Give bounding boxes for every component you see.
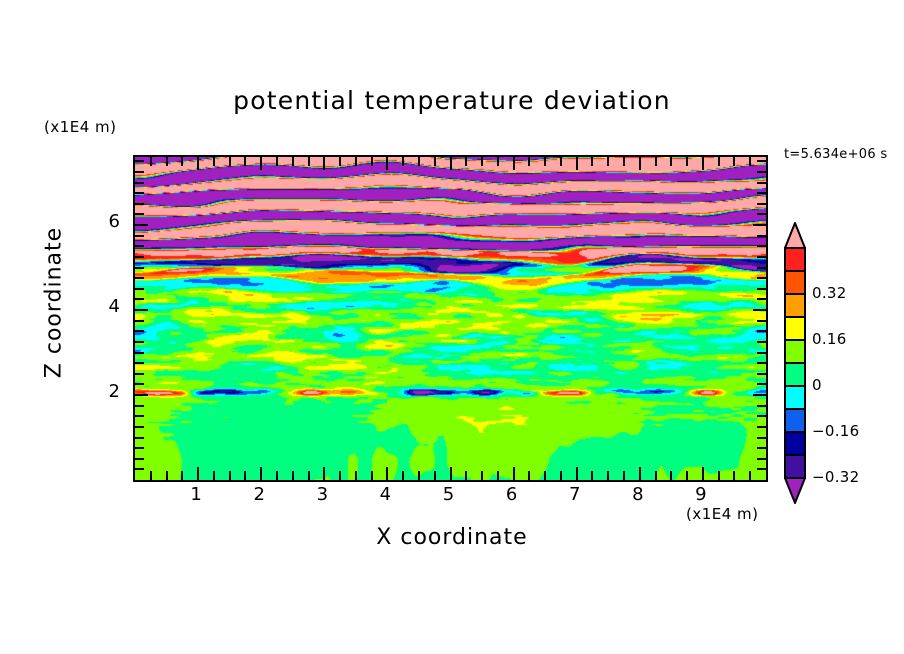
axis-tick [197, 157, 199, 170]
axis-tick [418, 471, 420, 480]
axis-tick [686, 157, 688, 166]
axis-tick [450, 157, 452, 170]
axis-tick [323, 157, 325, 170]
axis-tick [733, 157, 735, 166]
axis-tick [135, 203, 144, 205]
colorbar-over-arrow [785, 223, 805, 248]
axis-tick [544, 471, 546, 480]
colorbar-band [785, 363, 805, 386]
y-tick-label: 2 [92, 381, 120, 402]
axis-tick [402, 471, 404, 480]
axis-tick [757, 277, 766, 279]
axis-tick [229, 471, 231, 480]
axis-tick [135, 437, 144, 439]
axis-tick [402, 157, 404, 166]
axis-tick [757, 192, 766, 194]
axis-tick [733, 471, 735, 480]
axis-tick [135, 320, 144, 322]
axis-tick [166, 471, 168, 480]
y-axis-label: Z coordinate [42, 203, 67, 403]
axis-tick [757, 320, 766, 322]
colorbar-tick-label: −0.32 [812, 468, 859, 486]
axis-tick [434, 471, 436, 480]
axis-tick [481, 471, 483, 480]
axis-tick [670, 157, 672, 166]
axis-tick [355, 157, 357, 166]
axis-tick [497, 157, 499, 166]
axis-tick [757, 426, 766, 428]
axis-tick [757, 383, 766, 385]
axis-tick [386, 157, 388, 170]
colorbar [783, 222, 807, 504]
axis-tick [718, 471, 720, 480]
axis-tick [135, 447, 144, 449]
colorbar-band [785, 248, 805, 271]
x-tick-label: 3 [302, 484, 342, 505]
axis-tick [465, 471, 467, 480]
axis-tick [544, 157, 546, 166]
axis-tick [135, 309, 148, 311]
contour-field [135, 157, 766, 480]
axis-tick [513, 467, 515, 480]
axis-tick [292, 157, 294, 166]
axis-tick [135, 171, 144, 173]
axis-tick [150, 157, 152, 166]
axis-tick [465, 157, 467, 166]
axis-tick [757, 288, 766, 290]
y-axis-unit-label: (x1E4 m) [44, 118, 117, 136]
colorbar-tick-label: 0.16 [812, 330, 847, 348]
axis-tick [181, 157, 183, 166]
axis-tick [213, 471, 215, 480]
axis-tick [757, 235, 766, 237]
axis-tick [355, 471, 357, 480]
x-tick-label: 9 [681, 484, 721, 505]
axis-tick [757, 458, 766, 460]
axis-tick [135, 352, 144, 354]
axis-tick [757, 298, 766, 300]
axis-tick [757, 415, 766, 417]
axis-tick [623, 157, 625, 166]
axis-tick [371, 157, 373, 166]
axis-tick [757, 267, 766, 269]
axis-tick [757, 245, 766, 247]
axis-tick [181, 471, 183, 480]
figure-canvas: potential temperature deviation (x1E4 m)… [0, 0, 904, 654]
x-tick-label: 4 [365, 484, 405, 505]
axis-tick [135, 468, 144, 470]
axis-tick [757, 447, 766, 449]
colorbar-band [785, 409, 805, 432]
axis-tick [244, 157, 246, 166]
axis-tick [135, 458, 144, 460]
axis-tick [749, 157, 751, 166]
axis-tick [135, 288, 144, 290]
axis-tick [229, 157, 231, 166]
colorbar-swatches [783, 222, 807, 504]
axis-tick [166, 157, 168, 166]
axis-tick [371, 471, 373, 480]
axis-tick [757, 213, 766, 215]
axis-tick [135, 224, 148, 226]
colorbar-band [785, 294, 805, 317]
axis-tick [450, 467, 452, 480]
axis-tick [670, 471, 672, 480]
axis-tick [135, 405, 144, 407]
colorbar-band [785, 455, 805, 478]
axis-tick [757, 437, 766, 439]
x-tick-label: 1 [176, 484, 216, 505]
axis-tick [213, 157, 215, 166]
axis-tick [135, 341, 144, 343]
axis-tick [418, 157, 420, 166]
axis-tick [135, 235, 144, 237]
axis-tick [757, 203, 766, 205]
axis-tick [702, 157, 704, 170]
axis-tick [757, 160, 766, 162]
axis-tick [135, 394, 148, 396]
axis-tick [135, 277, 144, 279]
axis-tick [718, 157, 720, 166]
axis-tick [135, 298, 144, 300]
axis-tick [497, 471, 499, 480]
axis-tick [757, 373, 766, 375]
axis-tick [560, 471, 562, 480]
axis-tick [757, 468, 766, 470]
axis-tick [528, 471, 530, 480]
colorbar-under-arrow [785, 478, 805, 503]
axis-tick [757, 182, 766, 184]
axis-tick [135, 160, 144, 162]
axis-tick [135, 415, 144, 417]
axis-tick [308, 471, 310, 480]
axis-tick [560, 157, 562, 166]
x-tick-label: 2 [239, 484, 279, 505]
x-axis-label: X coordinate [0, 525, 904, 550]
x-tick-label: 7 [555, 484, 595, 505]
axis-tick [276, 471, 278, 480]
axis-tick [686, 471, 688, 480]
colorbar-tick-label: 0 [812, 376, 822, 394]
x-tick-label: 8 [618, 484, 658, 505]
axis-tick [323, 467, 325, 480]
page-title: potential temperature deviation [0, 86, 904, 115]
axis-tick [757, 405, 766, 407]
axis-tick [757, 256, 766, 258]
axis-tick [623, 471, 625, 480]
axis-tick [135, 362, 144, 364]
y-tick-label: 4 [92, 296, 120, 317]
axis-tick [757, 352, 766, 354]
time-annotation: t=5.634e+06 s [784, 147, 887, 162]
colorbar-band [785, 271, 805, 294]
axis-tick [339, 157, 341, 166]
colorbar-band [785, 386, 805, 409]
axis-tick [135, 373, 144, 375]
y-tick-label: 6 [92, 211, 120, 232]
axis-tick [308, 157, 310, 166]
axis-tick [260, 157, 262, 170]
axis-tick [197, 467, 199, 480]
axis-tick [150, 471, 152, 480]
contour-plot [133, 155, 768, 482]
axis-tick [639, 467, 641, 480]
axis-tick [576, 157, 578, 170]
axis-tick [655, 157, 657, 166]
axis-tick [135, 267, 144, 269]
x-tick-label: 6 [492, 484, 532, 505]
axis-tick [591, 471, 593, 480]
axis-tick [591, 157, 593, 166]
axis-tick [135, 383, 144, 385]
axis-tick [753, 309, 766, 311]
axis-tick [135, 192, 144, 194]
axis-tick [757, 341, 766, 343]
colorbar-band [785, 317, 805, 340]
axis-tick [260, 467, 262, 480]
axis-tick [757, 171, 766, 173]
axis-tick [292, 471, 294, 480]
axis-tick [244, 471, 246, 480]
colorbar-tick-label: −0.16 [812, 422, 859, 440]
axis-tick [135, 330, 144, 332]
colorbar-tick-label: 0.32 [812, 284, 847, 302]
axis-tick [135, 426, 144, 428]
colorbar-band [785, 340, 805, 363]
axis-tick [481, 157, 483, 166]
axis-tick [135, 245, 144, 247]
x-tick-label: 5 [429, 484, 469, 505]
axis-tick [276, 157, 278, 166]
axis-tick [528, 157, 530, 166]
axis-tick [339, 471, 341, 480]
axis-tick [135, 256, 144, 258]
colorbar-band [785, 432, 805, 455]
axis-tick [607, 157, 609, 166]
axis-tick [607, 471, 609, 480]
axis-tick [702, 467, 704, 480]
axis-tick [639, 157, 641, 170]
axis-tick [757, 330, 766, 332]
x-axis-unit-label: (x1E4 m) [686, 505, 759, 523]
axis-tick [386, 467, 388, 480]
axis-tick [757, 362, 766, 364]
axis-tick [513, 157, 515, 170]
axis-tick [753, 224, 766, 226]
axis-tick [135, 213, 144, 215]
axis-tick [576, 467, 578, 480]
axis-tick [753, 394, 766, 396]
axis-tick [655, 471, 657, 480]
axis-tick [434, 157, 436, 166]
axis-tick [749, 471, 751, 480]
axis-tick [135, 182, 144, 184]
